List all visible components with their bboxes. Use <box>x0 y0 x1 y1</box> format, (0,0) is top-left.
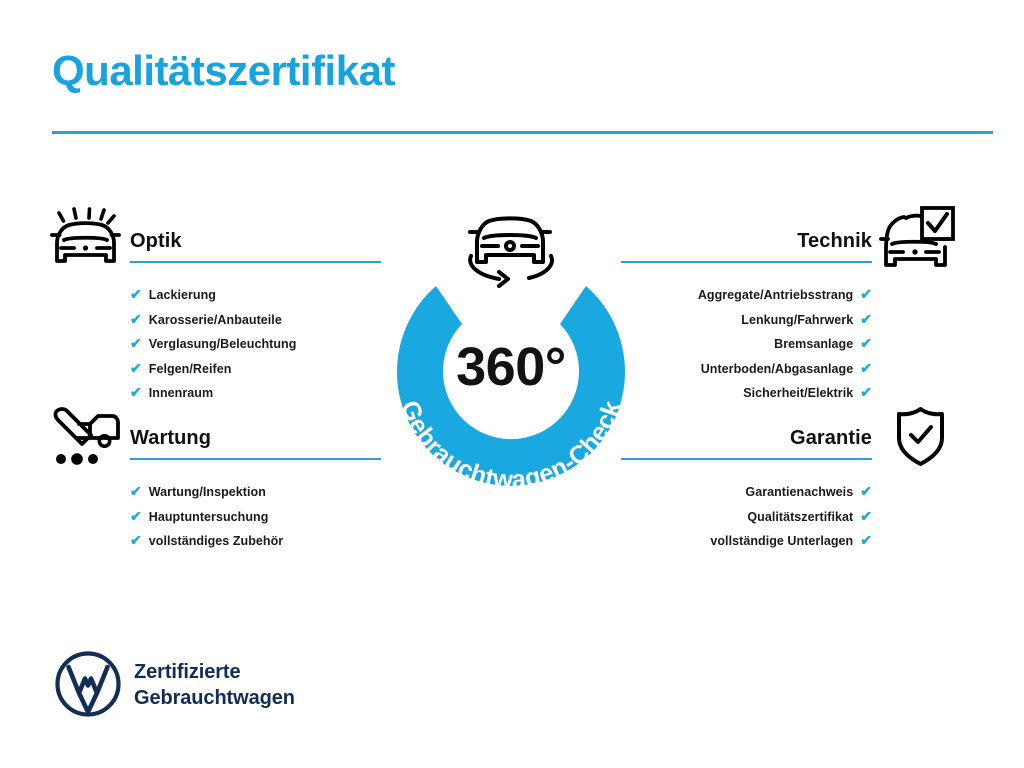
list-item-label: Garantienachweis <box>745 485 853 499</box>
check-icon: ✔ <box>860 335 872 351</box>
list-item: Bremsanlage✔ <box>698 332 872 357</box>
section-garantie-divider <box>621 458 872 460</box>
list-item: Unterboden/Abgasanlage✔ <box>698 357 872 382</box>
section-technik-header: Technik <box>620 205 960 279</box>
list-item: ✔Karosserie/Anbauteile <box>130 308 296 333</box>
section-optik-title: Optik <box>130 230 182 253</box>
section-optik-header: Optik <box>40 205 380 279</box>
check-icon: ✔ <box>860 508 872 524</box>
list-item-label: Hauptuntersuchung <box>149 510 269 524</box>
list-item-label: Innenraum <box>149 386 213 400</box>
footer-line-2: Gebrauchtwagen <box>134 685 295 711</box>
section-wartung-header: Wartung <box>40 402 380 476</box>
list-item: ✔Hauptuntersuchung <box>130 505 283 530</box>
section-wartung-title: Wartung <box>130 427 211 450</box>
section-technik-items: Aggregate/Antriebsstrang✔ Lenkung/Fahrwe… <box>698 283 872 406</box>
badge-center-label: 360° <box>372 336 650 398</box>
list-item-label: Verglasung/Beleuchtung <box>149 337 297 351</box>
list-item: Garantienachweis✔ <box>710 480 872 505</box>
check-icon: ✔ <box>860 483 872 499</box>
section-wartung-divider <box>130 458 381 460</box>
list-item-label: Sicherheit/Elektrik <box>743 386 853 400</box>
car-hood-checkbox-icon <box>878 205 956 275</box>
list-item-label: Lackierung <box>149 288 216 302</box>
section-wartung-items: ✔Wartung/Inspektion ✔Hauptuntersuchung ✔… <box>130 480 283 554</box>
check-icon: ✔ <box>130 335 142 351</box>
list-item: ✔Wartung/Inspektion <box>130 480 283 505</box>
footer-line-1: Zertifizierte <box>134 659 295 685</box>
check-icon: ✔ <box>130 360 142 376</box>
check-icon: ✔ <box>130 483 142 499</box>
section-garantie-header: Garantie <box>620 402 960 476</box>
section-technik: Technik Aggregate/Antriebsstrang✔ Lenkun… <box>620 205 960 279</box>
footer-brand-text: Zertifizierte Gebrauchtwagen <box>134 659 295 711</box>
section-optik-divider <box>130 261 381 263</box>
car-shine-icon <box>46 205 124 275</box>
vw-logo-icon <box>54 650 122 718</box>
certificate-page: Qualitätszertifikat <box>0 0 1024 768</box>
check-icon: ✔ <box>130 384 142 400</box>
list-item-label: Wartung/Inspektion <box>149 485 266 499</box>
car-rotate-icon <box>455 202 565 294</box>
check-icon: ✔ <box>130 286 142 302</box>
section-garantie-items: Garantienachweis✔ Qualitätszertifikat✔ v… <box>710 480 872 554</box>
list-item: ✔Felgen/Reifen <box>130 357 296 382</box>
check-icon: ✔ <box>130 508 142 524</box>
list-item-label: vollständige Unterlagen <box>710 534 853 548</box>
list-item-label: Qualitätszertifikat <box>747 510 853 524</box>
section-wartung: Wartung ✔Wartung/Inspektion ✔Hauptunters… <box>40 402 380 476</box>
check-icon: ✔ <box>130 311 142 327</box>
list-item-label: Unterboden/Abgasanlage <box>701 362 854 376</box>
check-icon: ✔ <box>860 286 872 302</box>
page-title: Qualitätszertifikat <box>52 48 395 94</box>
list-item-label: Aggregate/Antriebsstrang <box>698 288 853 302</box>
list-item-label: Bremsanlage <box>774 337 853 351</box>
section-optik-items: ✔Lackierung ✔Karosserie/Anbauteile ✔Verg… <box>130 283 296 406</box>
check-icon: ✔ <box>860 311 872 327</box>
list-item-label: Felgen/Reifen <box>149 362 232 376</box>
list-item: ✔vollständiges Zubehör <box>130 529 283 554</box>
check-icon: ✔ <box>860 532 872 548</box>
section-garantie: Garantie Garantienachweis✔ Qualitätszert… <box>620 402 960 476</box>
check-icon: ✔ <box>130 532 142 548</box>
car-service-tool-icon <box>46 402 124 472</box>
section-technik-title: Technik <box>797 230 872 253</box>
section-garantie-title: Garantie <box>790 427 872 450</box>
list-item-label: Karosserie/Anbauteile <box>149 313 282 327</box>
list-item: ✔Verglasung/Beleuchtung <box>130 332 296 357</box>
list-item-label: vollständiges Zubehör <box>149 534 283 548</box>
list-item: vollständige Unterlagen✔ <box>710 529 872 554</box>
section-optik: Optik ✔Lackierung ✔Karosserie/Anbauteile… <box>40 205 380 279</box>
list-item: Aggregate/Antriebsstrang✔ <box>698 283 872 308</box>
title-divider <box>52 131 993 134</box>
list-item: Lenkung/Fahrwerk✔ <box>698 308 872 333</box>
check-icon: ✔ <box>860 360 872 376</box>
check-icon: ✔ <box>860 384 872 400</box>
shield-check-icon <box>878 402 956 472</box>
section-technik-divider <box>621 261 872 263</box>
list-item: Qualitätszertifikat✔ <box>710 505 872 530</box>
list-item: ✔Lackierung <box>130 283 296 308</box>
list-item-label: Lenkung/Fahrwerk <box>741 313 853 327</box>
